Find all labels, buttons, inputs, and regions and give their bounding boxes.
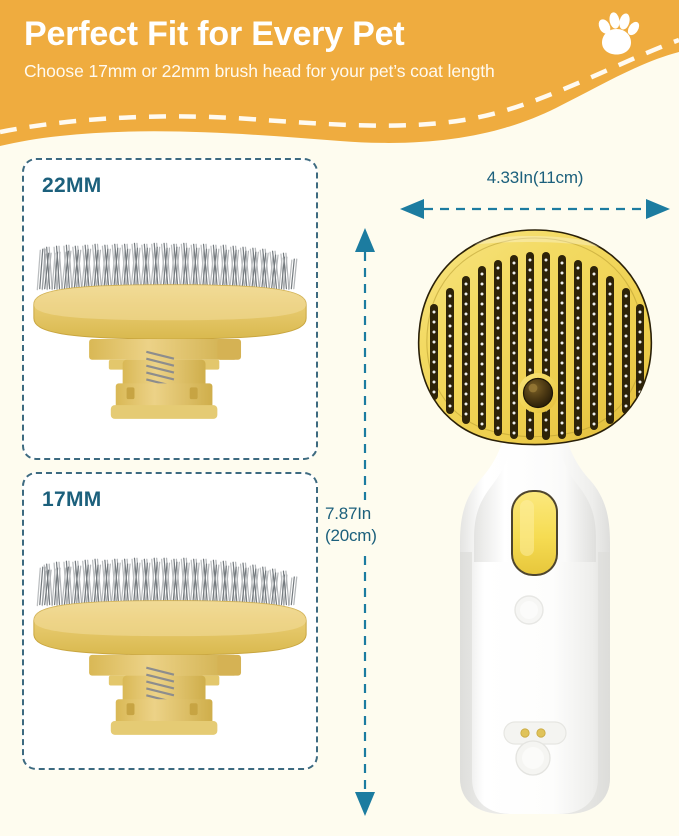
paw-print-icon [592,10,640,58]
handle-slider-button [511,490,558,576]
handle-indicator-button [515,596,543,624]
brush-head-pad [419,230,652,445]
dimension-width: 4.33In(11cm) [400,168,670,226]
dimension-height-line2: (20cm) [325,525,411,547]
base-button [516,741,550,775]
header-text-group: Perfect Fit for Every Pet Choose 17mm or… [24,14,624,82]
brush-head-22mm-image [24,232,316,447]
page-title: Perfect Fit for Every Pet [24,14,624,54]
pet-grooming-brush-image [400,222,670,822]
page-subtitle: Choose 17mm or 22mm brush head for your … [24,60,504,82]
product-infographic-page: Perfect Fit for Every Pet Choose 17mm or… [0,0,679,836]
spec-box-17mm: 17MM [22,472,318,770]
double-arrow-horizontal-icon [400,196,670,222]
dimension-height-line1: 7.87In [325,503,411,525]
center-release-button [518,373,558,413]
spec-label-22mm: 22MM [42,174,102,198]
spec-label-17mm: 17MM [42,488,102,512]
dimension-height-label: 7.87In (20cm) [325,500,411,550]
brush-head-17mm-image [24,536,316,761]
header-banner: Perfect Fit for Every Pet Choose 17mm or… [0,0,679,160]
dimension-height: 7.87In (20cm) [330,228,410,816]
spec-box-22mm: 22MM [22,158,318,460]
dimension-width-label: 4.33In(11cm) [400,168,670,188]
